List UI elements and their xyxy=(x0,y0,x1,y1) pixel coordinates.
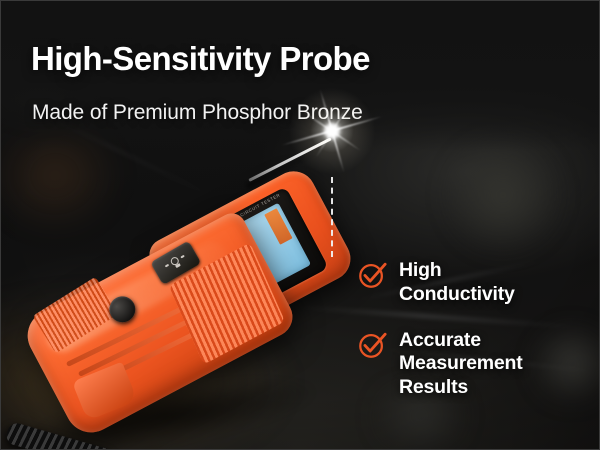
product-image: AUTOMOTIVE CIRCUIT TESTER 0.0V VELOCE xyxy=(1,151,361,450)
check-circle-icon xyxy=(357,260,387,290)
lcd-orange-strip xyxy=(264,208,292,245)
product-banner: High-Sensitivity Probe Made of Premium P… xyxy=(0,0,600,450)
feature-item: High Conductivity xyxy=(357,259,593,307)
subheadline: Made of Premium Phosphor Bronze xyxy=(32,100,552,125)
feature-label: High Conductivity xyxy=(399,259,515,307)
callout-dashed-line xyxy=(331,177,333,257)
check-circle-icon xyxy=(357,330,387,360)
feature-list: High Conductivity Accurate Measurement R… xyxy=(357,259,593,422)
feature-label: Accurate Measurement Results xyxy=(399,329,523,400)
headline: High-Sensitivity Probe xyxy=(31,41,551,77)
lamp-icon xyxy=(165,253,186,273)
feature-item: Accurate Measurement Results xyxy=(357,329,593,400)
